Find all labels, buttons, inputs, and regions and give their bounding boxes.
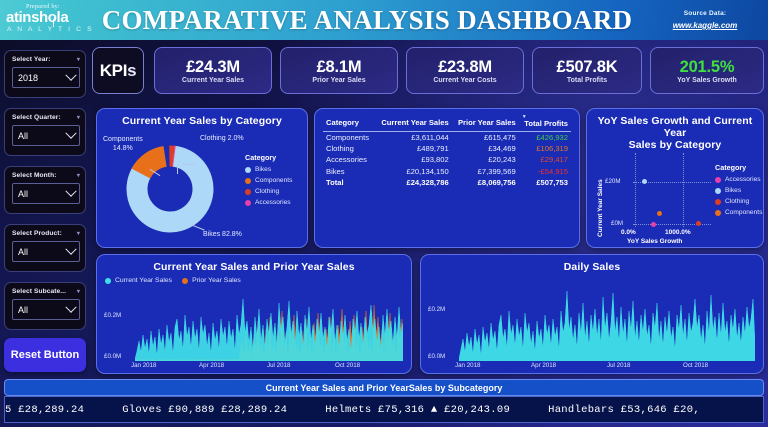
kpi-card-prior-year-sales: £8.1M Prior Year Sales [280, 47, 398, 94]
scatter-y-axis-label: Current Year Sales [597, 179, 604, 237]
daily-x-tick-oct: Oct 2018 [683, 362, 708, 369]
slicer-quarter-dropdown[interactable]: All [12, 125, 80, 146]
slicer-select-year[interactable]: Select Year: ▾ 2018 [4, 50, 86, 98]
daily-area-chart[interactable] [459, 285, 755, 361]
table-row[interactable]: Components £3,611,044 £615,475 £426,932 [323, 132, 571, 144]
legend-dot-bikes [715, 188, 721, 194]
daily-x-tick-apr: Apr 2018 [531, 362, 556, 369]
chevron-down-icon [65, 127, 76, 138]
scatter-point-clothing[interactable] [696, 221, 701, 226]
magnifier-icon: o [48, 10, 57, 25]
panel-yoy-scatter: YoY Sales Growth and Current Year Sales … [586, 108, 764, 248]
compare-x-tick-jan: Jan 2018 [131, 362, 156, 369]
slicer-month-label: Select Month: ▾ [12, 172, 80, 179]
legend-dot-components [245, 178, 251, 184]
slicer-quarter-value: All [18, 131, 28, 141]
legend-dot-clothing [715, 199, 721, 205]
page-title: COMPARATIVE ANALYSIS DASHBOARD [96, 5, 648, 36]
legend-item-bikes[interactable]: Bikes [715, 187, 762, 194]
scatter-y-tick-0m: £0M [611, 220, 623, 227]
kpi-value-yoy-sales-growth: 201.5% [680, 58, 735, 76]
legend-label-prior-year: Prior Year Sales [192, 277, 241, 284]
donut-label-components-pct: 14.8% [103, 144, 143, 153]
scatter-gridline-v2 [683, 153, 684, 227]
slicer-product-dropdown[interactable]: All [12, 241, 80, 262]
cell-current-year-sales: £3,611,044 [375, 132, 452, 144]
kpi-label-current-year-sales: Current Year Sales [182, 77, 244, 84]
slicer-select-month[interactable]: Select Month: ▾ All [4, 166, 86, 214]
kpis-section-label: KPIs [92, 47, 144, 94]
logo-name-part2: la [57, 9, 69, 26]
slicer-subcategory-label-text: Select Subcate... [12, 288, 66, 295]
source-data-block: Source Data: www.kaggle.com [648, 10, 768, 30]
ticker-segment-4: Handlebars £53,646 £20, [548, 404, 700, 416]
chevron-down-icon [65, 185, 76, 196]
scatter-plot-area[interactable]: Current Year Sales £20M £0M 0.0% 1000.0%… [587, 143, 765, 249]
slicer-select-quarter[interactable]: Select Quarter: ▾ All [4, 108, 86, 156]
kpi-card-total-profits: £507.8K Total Profits [532, 47, 642, 94]
kpi-card-current-year-sales: £24.3M Current Year Sales [154, 47, 272, 94]
scatter-x-axis-label: YoY Sales Growth [627, 238, 682, 245]
slicer-subcategory-label: Select Subcate... ▾ [12, 288, 80, 295]
legend-item-clothing[interactable]: Clothing [715, 198, 762, 205]
compare-panel-title: Current Year Sales and Prior Year Sales [97, 255, 411, 273]
cell-prior-year-sales: £8,069,756 [452, 177, 519, 188]
scatter-y-tick-20m: £20M [605, 178, 620, 185]
panel-sales-by-category: Current Year Sales by Category Component… [96, 108, 308, 248]
slicer-quarter-label-text: Select Quarter: [12, 114, 61, 121]
kpi-value-prior-year-sales: £8.1M [317, 58, 362, 76]
ticker-segment-2: Gloves £90,889 £28,289.24 [122, 404, 287, 416]
table-col-category[interactable]: Category [323, 115, 375, 132]
compare-x-tick-jul: Jul 2018 [267, 362, 290, 369]
logo-name-part1: atinsh [6, 9, 48, 26]
cell-category: Bikes [323, 166, 375, 177]
legend-label-bikes: Bikes [255, 166, 271, 173]
cell-total-profits: £29,417 [519, 154, 571, 165]
daily-x-tick-jan: Jan 2018 [455, 362, 480, 369]
kpi-value-total-profits: £507.8K [557, 58, 618, 76]
kpi-value-current-year-costs: £23.8M [438, 58, 492, 76]
ticker-segment-1: 5 £28,289.24 [5, 404, 84, 416]
chevron-down-icon [65, 243, 76, 254]
cell-category: Total [323, 177, 375, 188]
slicer-select-subcategory[interactable]: Select Subcate... ▾ All [4, 282, 86, 330]
table-col-total-profits[interactable]: ▼ Total Profits [519, 115, 571, 132]
cell-current-year-sales: £24,328,786 [375, 177, 452, 188]
scatter-x-tick-0: 0.0% [621, 229, 636, 236]
legend-dot-bikes [245, 167, 251, 173]
legend-dot-components [715, 210, 721, 216]
dashboard-header: Prepared by: atinshola A N A L Y T I C S… [0, 0, 768, 40]
logo-subtitle: A N A L Y T I C S [4, 25, 96, 34]
slicer-subcategory-dropdown[interactable]: All [12, 299, 80, 320]
subcategory-banner-title: Current Year Sales and Prior YearSales b… [4, 379, 764, 396]
compare-x-tick-oct: Oct 2018 [335, 362, 360, 369]
chevron-down-icon: ▾ [77, 56, 80, 63]
legend-label-accessories: Accessories [725, 176, 761, 183]
chevron-down-icon: ▾ [77, 172, 80, 179]
daily-series [459, 291, 755, 361]
cell-prior-year-sales: £20,243 [452, 154, 519, 165]
legend-item-clothing[interactable]: Clothing [245, 188, 292, 195]
donut-legend: Category Bikes Components Clothing Acces… [245, 153, 292, 210]
compare-y-tick-02m: £0.2M [104, 312, 121, 319]
kpi-label-yoy-sales-growth: YoY Sales Growth [677, 77, 737, 84]
panel-cy-vs-py: Current Year Sales and Prior Year Sales … [96, 254, 412, 374]
daily-y-tick-02m: £0.2M [428, 306, 445, 313]
subcategory-ticker[interactable]: 5 £28,289.24 Gloves £90,889 £28,289.24 H… [4, 396, 764, 423]
panel-category-table: Category Current Year Sales Prior Year S… [314, 108, 580, 248]
compare-area-chart[interactable] [135, 291, 403, 361]
reset-button[interactable]: Reset Button [4, 338, 86, 372]
kpis-section-label-text: KPIs [100, 61, 137, 81]
category-data-table[interactable]: Category Current Year Sales Prior Year S… [323, 115, 571, 188]
cell-current-year-sales: £489,791 [375, 143, 452, 154]
cell-prior-year-sales: £7,399,569 [452, 166, 519, 177]
cell-category: Clothing [323, 143, 375, 154]
cell-prior-year-sales: £615,475 [452, 132, 519, 144]
slicer-year-value: 2018 [18, 73, 38, 83]
legend-item-components[interactable]: Components [715, 209, 762, 216]
donut-legend-title: Category [245, 153, 292, 162]
slicer-subcategory-value: All [18, 305, 28, 315]
slicer-year-dropdown[interactable]: 2018 [12, 67, 80, 88]
chevron-down-icon: ▾ [77, 230, 80, 237]
legend-label-current-year: Current Year Sales [115, 277, 172, 284]
cell-total-profits: £507,753 [519, 177, 571, 188]
slicer-quarter-label: Select Quarter: ▾ [12, 114, 80, 121]
table-col-current-year-sales[interactable]: Current Year Sales [375, 115, 452, 132]
cell-current-year-sales: £93,802 [375, 154, 452, 165]
cell-total-profits: -£54,915 [519, 166, 571, 177]
scatter-panel-title-line1: YoY Sales Growth and Current Year [587, 109, 763, 139]
table-row[interactable]: Clothing £489,791 £34,469 £106,319 [323, 143, 571, 154]
chevron-down-icon: ▾ [77, 114, 80, 121]
kpi-label-prior-year-sales: Prior Year Sales [312, 77, 365, 84]
table-col-prior-year-sales[interactable]: Prior Year Sales [452, 115, 519, 132]
kpi-card-current-year-costs: £23.8M Current Year Costs [406, 47, 524, 94]
cell-category: Components [323, 132, 375, 144]
slicer-select-product[interactable]: Select Product: ▾ All [4, 224, 86, 272]
ticker-segment-3: Helmets £75,316 ▲ £20,243.09 [325, 404, 510, 416]
donut-label-clothing: Clothing 2.0% [200, 135, 244, 142]
legend-label-components: Components [725, 209, 762, 216]
kpi-card-yoy-sales-growth: 201.5% YoY Sales Growth [650, 47, 764, 94]
legend-label-bikes: Bikes [725, 187, 741, 194]
cell-total-profits: £106,319 [519, 143, 571, 154]
legend-item-prior-year-sales[interactable]: Prior Year Sales [182, 277, 241, 284]
daily-panel-title: Daily Sales [421, 255, 763, 273]
legend-label-components: Components [255, 177, 292, 184]
legend-dot-prior-year [182, 278, 188, 284]
chevron-down-icon [65, 69, 76, 80]
source-data-label: Source Data: [648, 10, 762, 17]
scatter-point-accessories[interactable] [651, 222, 656, 227]
slicer-month-dropdown[interactable]: All [12, 183, 80, 204]
legend-item-bikes[interactable]: Bikes [245, 166, 292, 173]
source-data-link[interactable]: www.kaggle.com [648, 21, 762, 30]
cell-prior-year-sales: £34,469 [452, 143, 519, 154]
legend-item-components[interactable]: Components [245, 177, 292, 184]
legend-item-current-year-sales[interactable]: Current Year Sales [105, 277, 172, 284]
slicer-year-label: Select Year: ▾ [12, 56, 80, 63]
compare-legend: Current Year Sales Prior Year Sales [105, 277, 241, 284]
donut-label-components: Components 14.8% [103, 135, 143, 153]
donut-leader-line-clothing [177, 165, 178, 174]
cell-current-year-sales: £20,134,150 [375, 166, 452, 177]
donut-panel-title: Current Year Sales by Category [97, 109, 307, 127]
logo-name: atinshola [4, 10, 96, 25]
panel-daily-sales: Daily Sales £0.2M £0.0M Jan 2018 Apr 201… [420, 254, 764, 374]
donut-label-bikes: Bikes 82.8% [203, 231, 242, 238]
daily-x-tick-jul: Jul 2018 [607, 362, 630, 369]
chevron-down-icon [65, 301, 76, 312]
slicer-product-label: Select Product: ▾ [12, 230, 80, 237]
legend-dot-accessories [245, 200, 251, 206]
kpi-label-current-year-costs: Current Year Costs [433, 77, 496, 84]
legend-item-accessories[interactable]: Accessories [715, 176, 762, 183]
filters-sidebar: Select Year: ▾ 2018 Select Quarter: ▾ Al… [0, 42, 90, 387]
table-header-row: Category Current Year Sales Prior Year S… [323, 115, 571, 132]
legend-dot-current-year [105, 278, 111, 284]
slicer-year-label-text: Select Year: [12, 56, 50, 63]
kpi-label-total-profits: Total Profits [567, 77, 607, 84]
table-row[interactable]: Bikes £20,134,150 £7,399,569 -£54,915 [323, 166, 571, 177]
legend-dot-accessories [715, 177, 721, 183]
scatter-legend: Category Accessories Bikes Clothing Comp… [715, 163, 762, 220]
legend-dot-clothing [245, 189, 251, 195]
scatter-x-tick-1000: 1000.0% [665, 229, 691, 236]
table-row[interactable]: Accessories £93,802 £20,243 £29,417 [323, 154, 571, 165]
company-logo: Prepared by: atinshola A N A L Y T I C S [0, 0, 96, 40]
compare-x-tick-apr: Apr 2018 [199, 362, 224, 369]
legend-label-accessories: Accessories [255, 199, 291, 206]
cell-category: Accessories [323, 154, 375, 165]
legend-label-clothing: Clothing [725, 198, 749, 205]
table-row-total: Total £24,328,786 £8,069,756 £507,753 [323, 177, 571, 188]
donut-label-components-name: Components [103, 135, 143, 144]
scatter-point-bikes[interactable] [642, 179, 647, 184]
kpi-value-current-year-sales: £24.3M [186, 58, 240, 76]
scatter-point-components[interactable] [657, 211, 662, 216]
daily-y-tick-00m: £0.0M [428, 353, 445, 360]
cell-total-profits: £426,932 [519, 132, 571, 144]
slicer-month-value: All [18, 189, 28, 199]
compare-y-tick-00m: £0.0M [104, 353, 121, 360]
slicer-product-value: All [18, 247, 28, 257]
chevron-down-icon: ▾ [77, 288, 80, 295]
slicer-product-label-text: Select Product: [12, 230, 62, 237]
legend-label-clothing: Clothing [255, 188, 279, 195]
scatter-gridline-v1 [635, 153, 636, 227]
donut-leader-line-clothing2 [183, 164, 195, 165]
slicer-month-label-text: Select Month: [12, 172, 57, 179]
legend-item-accessories[interactable]: Accessories [245, 199, 292, 206]
table-col-total-profits-label: Total Profits [524, 119, 568, 128]
scatter-legend-title: Category [715, 163, 762, 172]
